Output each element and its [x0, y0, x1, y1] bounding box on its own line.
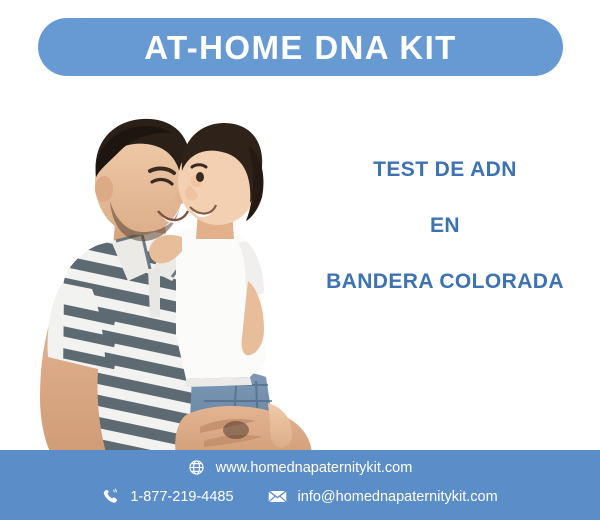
email-contact[interactable]: info@homednapaternitykit.com	[268, 489, 498, 505]
phone-icon	[102, 488, 119, 505]
footer-website-row: www.homednapaternitykit.com	[0, 459, 600, 476]
headline-line-1: TEST DE ADN	[300, 158, 590, 182]
footer-bar: www.homednapaternitykit.com 1-877-219-44…	[0, 450, 600, 520]
envelope-icon	[268, 489, 287, 504]
page-title: AT-HOME DNA KIT	[144, 31, 456, 64]
title-banner: AT-HOME DNA KIT	[38, 18, 563, 76]
website-contact[interactable]: www.homednapaternitykit.com	[188, 459, 413, 476]
phone-label: 1-877-219-4485	[130, 489, 233, 505]
headline-line-3: BANDERA COLORADA	[300, 270, 590, 294]
family-photo	[0, 85, 320, 465]
footer-contact-row: 1-877-219-4485 info@homednapaternitykit.…	[0, 488, 600, 505]
headline-line-2: EN	[300, 214, 590, 238]
email-label: info@homednapaternitykit.com	[298, 489, 498, 505]
headline-block: TEST DE ADN EN BANDERA COLORADA	[300, 158, 590, 294]
poster-canvas: AT-HOME DNA KIT	[0, 0, 600, 520]
globe-icon	[188, 459, 205, 476]
phone-contact[interactable]: 1-877-219-4485	[102, 488, 233, 505]
website-label: www.homednapaternitykit.com	[216, 460, 413, 476]
